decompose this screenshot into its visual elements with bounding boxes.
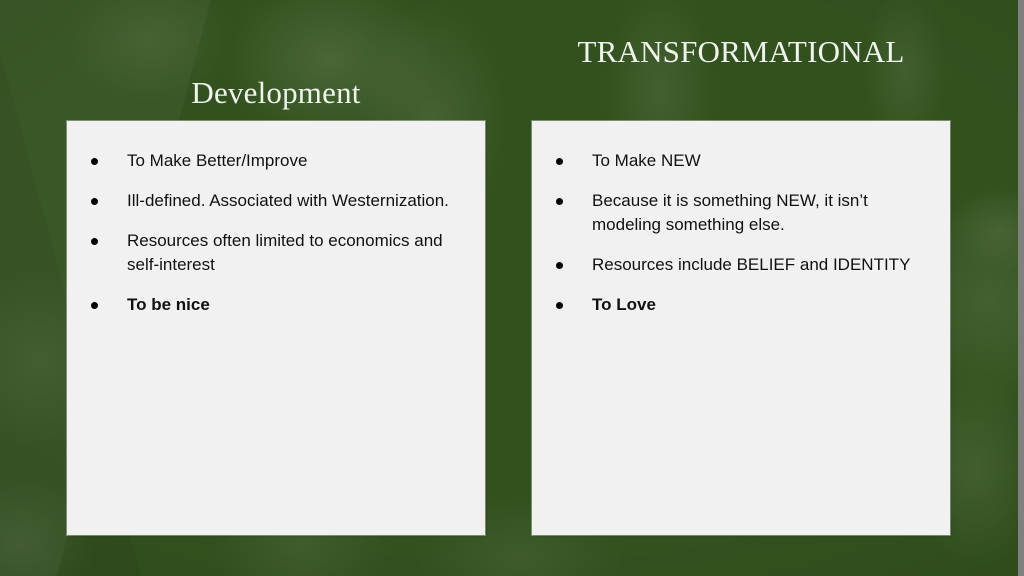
list-item: Resources often limited to economics and… bbox=[80, 229, 465, 277]
slide-canvas: Development To Make Better/Improve Ill-d… bbox=[0, 0, 1018, 576]
list-item: To Make NEW bbox=[545, 149, 930, 173]
column-left-bullet-list: To Make Better/Improve Ill-defined. Asso… bbox=[67, 121, 485, 317]
list-item: To Make Better/Improve bbox=[80, 149, 465, 173]
list-item: Resources include BELIEF and IDENTITY bbox=[545, 253, 930, 277]
list-item: To Love bbox=[545, 293, 930, 317]
column-right-title: TRANSFORMATIONAL bbox=[532, 33, 950, 70]
column-left-title: Development bbox=[67, 74, 485, 111]
column-left-card: To Make Better/Improve Ill-defined. Asso… bbox=[67, 121, 485, 535]
list-item: Ill-defined. Associated with Westernizat… bbox=[80, 189, 465, 213]
column-right-card: To Make NEW Because it is something NEW,… bbox=[532, 121, 950, 535]
list-item: To be nice bbox=[80, 293, 465, 317]
list-item: Because it is something NEW, it isn’t mo… bbox=[545, 189, 930, 237]
column-right-bullet-list: To Make NEW Because it is something NEW,… bbox=[532, 121, 950, 317]
